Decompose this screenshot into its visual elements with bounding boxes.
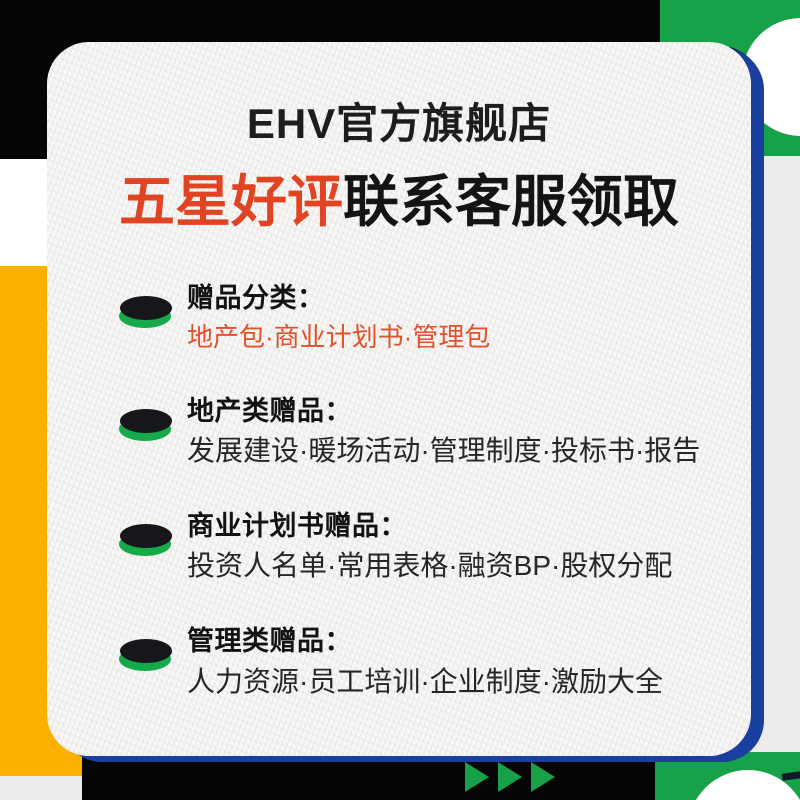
triangle-right-icon xyxy=(465,762,489,792)
list-item-title: 管理类赠品： xyxy=(187,625,731,659)
green-disc-icon xyxy=(117,296,173,326)
list-item-items: 地产包·商业计划书·管理包 xyxy=(187,321,731,355)
arrow-group xyxy=(465,762,555,792)
gift-list: 赠品分类： 地产包·商业计划书·管理包 地产类赠品： 发展建设·暖场活动·管理制… xyxy=(109,282,731,740)
content-card: EHV官方旗舰店 五星好评联系客服领取 赠品分类： 地产包·商业计划书·管理包 xyxy=(47,42,751,756)
promo-poster: EHV官方旗舰店 五星好评联系客服领取 赠品分类： 地产包·商业计划书·管理包 xyxy=(0,0,800,800)
page-title: EHV官方旗舰店 xyxy=(47,90,751,151)
list-item-items: 发展建设·暖场活动·管理制度·投标书·报告 xyxy=(187,433,731,469)
list-item: 地产类赠品： 发展建设·暖场活动·管理制度·投标书·报告 xyxy=(109,395,731,470)
headline-accent-text: 五星好评 xyxy=(119,170,343,233)
headline-main-text: 联系客服领取 xyxy=(343,170,679,233)
list-item: 管理类赠品： 人力资源·员工培训·企业制度·激励大全 xyxy=(109,625,731,700)
list-item-items: 人力资源·员工培训·企业制度·激励大全 xyxy=(187,664,731,700)
green-disc-icon xyxy=(117,524,173,554)
list-item-items: 投资人名单·常用表格·融资BP·股权分配 xyxy=(187,548,731,584)
list-item-title: 地产类赠品： xyxy=(187,395,731,429)
headline: 五星好评联系客服领取 xyxy=(47,157,751,238)
list-item: 商业计划书赠品： 投资人名单·常用表格·融资BP·股权分配 xyxy=(109,510,731,585)
triangle-right-icon xyxy=(498,762,522,792)
triangle-right-icon xyxy=(531,762,555,792)
list-item-title: 赠品分类： xyxy=(187,282,731,316)
list-item-title: 商业计划书赠品： xyxy=(187,510,731,544)
green-disc-icon xyxy=(117,639,173,669)
list-item: 赠品分类： 地产包·商业计划书·管理包 xyxy=(109,282,731,355)
green-disc-icon xyxy=(117,409,173,439)
